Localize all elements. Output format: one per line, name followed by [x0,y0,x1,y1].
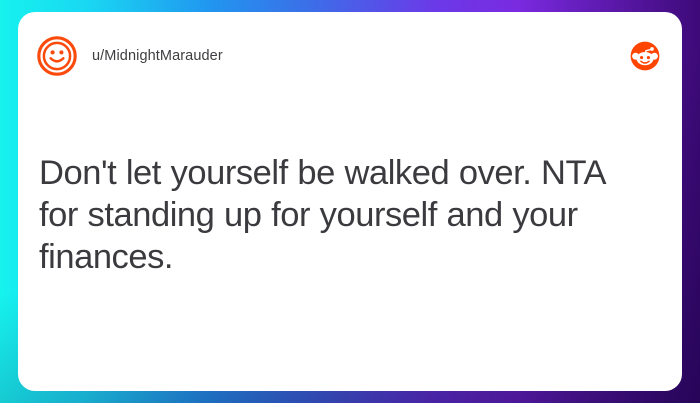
post-header: u/MidnightMarauder [18,32,682,80]
username-label[interactable]: u/MidnightMarauder [92,48,223,64]
smiley-face-avatar-icon[interactable] [36,35,78,77]
post-card: u/MidnightMarauder Don't let yourself be… [18,12,682,391]
post-body-text: Don't let yourself be walked over. NTA f… [39,152,652,278]
reddit-snoo-icon[interactable] [630,41,660,71]
